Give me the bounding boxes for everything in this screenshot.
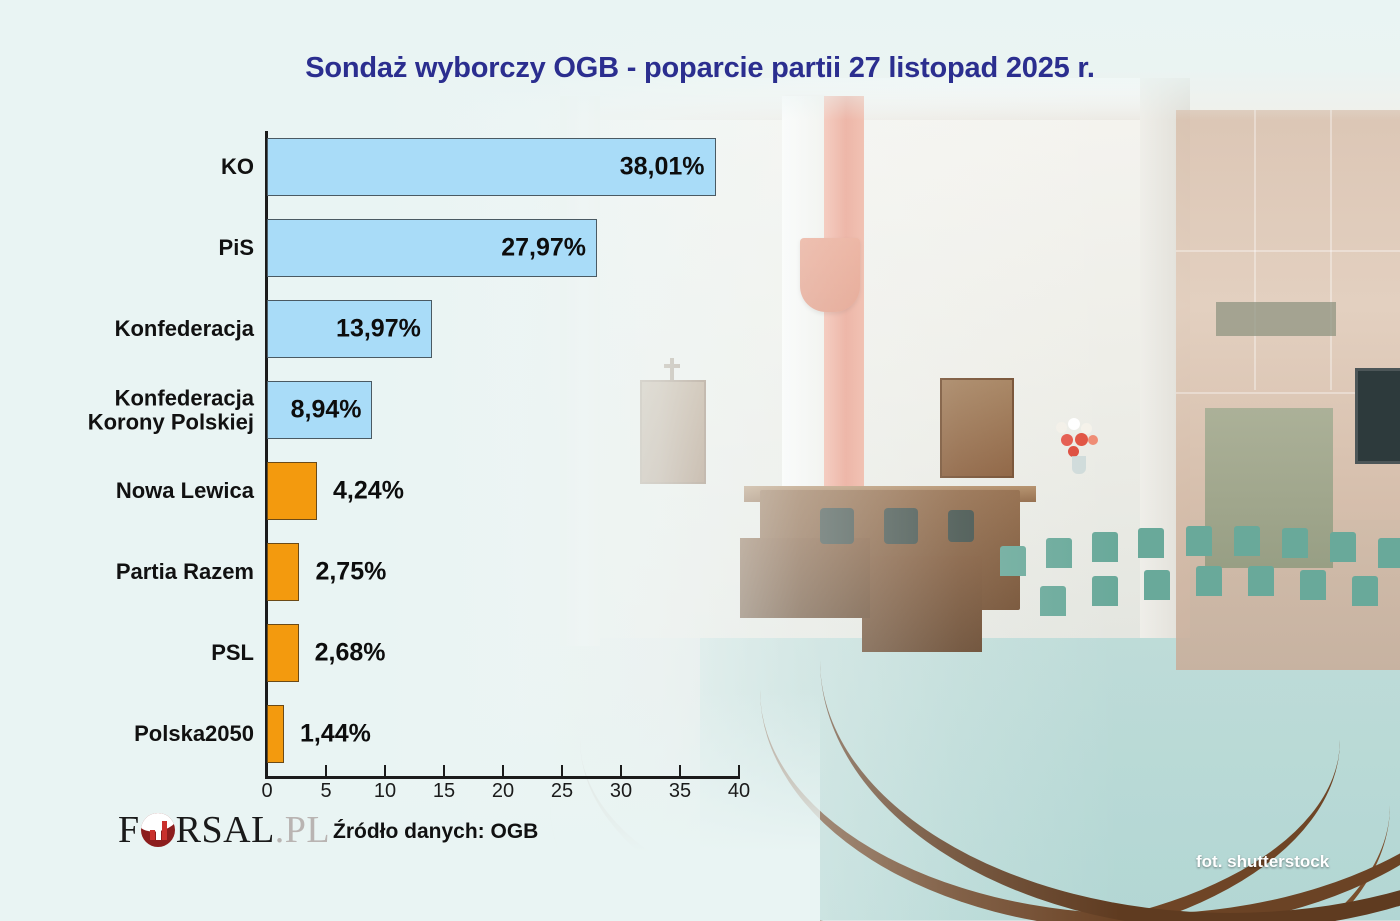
bar-row: PSL2,68% bbox=[0, 617, 1400, 689]
infographic-poll-chart: Sondaż wyborczy OGB - poparcie partii 27… bbox=[0, 0, 1400, 921]
category-label: Partia Razem bbox=[0, 560, 254, 584]
bar-row: Polska20501,44% bbox=[0, 698, 1400, 770]
category-label: KO bbox=[0, 155, 254, 179]
category-label: Nowa Lewica bbox=[0, 479, 254, 503]
category-label: Konfederacja bbox=[0, 317, 254, 341]
bar-row: KO38,01% bbox=[0, 131, 1400, 203]
bar[interactable] bbox=[267, 543, 299, 601]
page-title: Sondaż wyborczy OGB - poparcie partii 27… bbox=[0, 52, 1400, 85]
photo-credit: fot. shutterstock bbox=[1196, 852, 1329, 872]
bar-value-label: 1,44% bbox=[300, 720, 371, 749]
bar[interactable]: 8,94% bbox=[267, 381, 372, 439]
category-label: PiS bbox=[0, 236, 254, 260]
bar[interactable] bbox=[267, 705, 284, 763]
bar[interactable]: 38,01% bbox=[267, 138, 716, 196]
category-label: PSL bbox=[0, 641, 254, 665]
bar-value-label: 13,97% bbox=[336, 315, 421, 344]
bar[interactable] bbox=[267, 624, 299, 682]
bar-row: Konfederacja13,97% bbox=[0, 293, 1400, 365]
x-axis-tick-label: 30 bbox=[610, 780, 632, 803]
x-axis-tick-label: 0 bbox=[261, 780, 272, 803]
bar[interactable]: 13,97% bbox=[267, 300, 432, 358]
bar-value-label: 4,24% bbox=[333, 477, 404, 506]
x-axis-tick-label: 35 bbox=[669, 780, 691, 803]
x-axis-tick-label: 40 bbox=[728, 780, 750, 803]
category-label: Konfederacja Korony Polskiej bbox=[0, 386, 254, 434]
bar-chart: 0510152025303540 KO38,01%PiS27,97%Konfed… bbox=[0, 0, 1400, 921]
bar-row: Partia Razem2,75% bbox=[0, 536, 1400, 608]
x-axis-tick-label: 25 bbox=[551, 780, 573, 803]
category-label: Polska2050 bbox=[0, 722, 254, 746]
bar-value-label: 2,68% bbox=[315, 639, 386, 668]
x-axis-tick-label: 20 bbox=[492, 780, 514, 803]
bar-value-label: 27,97% bbox=[501, 234, 586, 263]
bar[interactable] bbox=[267, 462, 317, 520]
bar-value-label: 2,75% bbox=[315, 558, 386, 587]
bar-value-label: 8,94% bbox=[291, 396, 362, 425]
x-axis-tick-label: 10 bbox=[374, 780, 396, 803]
x-axis-tick-label: 15 bbox=[433, 780, 455, 803]
bar-row: Konfederacja Korony Polskiej8,94% bbox=[0, 374, 1400, 446]
bar-value-label: 38,01% bbox=[620, 153, 705, 182]
bar-row: PiS27,97% bbox=[0, 212, 1400, 284]
x-axis-tick-label: 5 bbox=[320, 780, 331, 803]
bar-row: Nowa Lewica4,24% bbox=[0, 455, 1400, 527]
bar[interactable]: 27,97% bbox=[267, 219, 597, 277]
